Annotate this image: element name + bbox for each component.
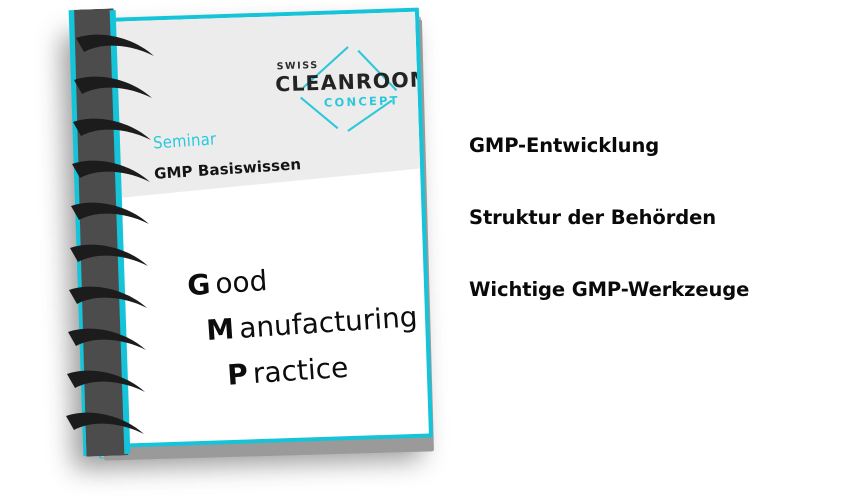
brand-logo-line-3: CONCEPT — [324, 93, 400, 110]
acronym-capital-p: P — [226, 357, 254, 392]
acronym-rest-manufacturing: anufacturing — [238, 300, 418, 345]
acronym-capital-g: G — [186, 267, 216, 302]
topic-item-3: Wichtige GMP-Werkzeuge — [469, 278, 839, 301]
booklet-cover: SWISS CLEANROOM CONCEPT Seminar GMP Basi… — [86, 8, 433, 449]
topic-item-2: Struktur der Behörden — [469, 206, 839, 229]
booklet-cover-inner: SWISS CLEANROOM CONCEPT Seminar GMP Basi… — [90, 12, 429, 445]
topic-item-1: GMP-Entwicklung — [469, 134, 839, 157]
acronym-rest-good: ood — [214, 264, 268, 300]
acronym-rest-practice: ractice — [252, 351, 349, 390]
seminar-booklet: SWISS CLEANROOM CONCEPT Seminar GMP Basi… — [62, 8, 442, 478]
acronym-capital-m: M — [205, 312, 240, 347]
brand-logo-line-2: CLEANROOM — [275, 67, 429, 96]
brand-logo: SWISS CLEANROOM CONCEPT — [266, 40, 417, 137]
slide-canvas: SWISS CLEANROOM CONCEPT Seminar GMP Basi… — [0, 0, 867, 498]
topic-list: GMP-Entwicklung Struktur der Behörden Wi… — [469, 134, 839, 301]
gmp-acronym-block: Good Manufacturing Practice — [186, 248, 422, 401]
